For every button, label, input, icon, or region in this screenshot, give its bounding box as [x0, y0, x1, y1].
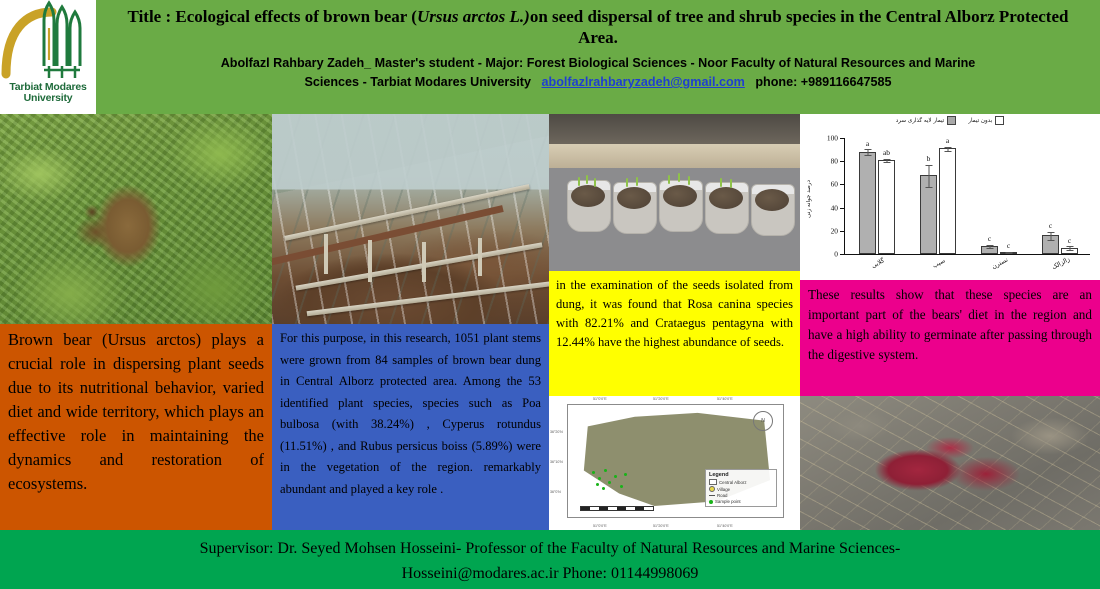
- germination-bar-chart: بدون تیمار تیمار لایه گذاری سرد درصد جوا…: [800, 114, 1100, 280]
- authors-block: Abolfazl Rahbary Zadeh_ Master's student…: [100, 48, 1096, 92]
- bar-zalzalak-cold: c: [1042, 235, 1059, 254]
- bar-sib-cold: b: [920, 175, 937, 254]
- map-legend-item-road: Road: [709, 493, 773, 498]
- photo-study-area-map: 51°0'0"E 51°20'0"E 51°40'0"E N Legend Ce…: [549, 396, 800, 530]
- supervisor-info: Supervisor: Dr. Seyed Mohsen Hosseini- P…: [0, 530, 1100, 586]
- sample-point-dot-icon: [709, 500, 713, 504]
- map-legend-title: Legend: [709, 472, 773, 478]
- photo-greenhouse-nursery: [272, 114, 549, 324]
- university-logo-text: Tarbiat Modares University: [0, 82, 96, 104]
- bar-zalzalak-none: c: [1061, 248, 1078, 254]
- chart-plot-area: درصد جوانه زنی 0 20 40 60 80 100 a: [800, 128, 1100, 280]
- intro-text-orange: Brown bear (Ursus arctos) plays a crucia…: [0, 324, 272, 530]
- map-legend-label-1: Central Alborz: [719, 480, 747, 485]
- conclusion-text-magenta: These results show that these species ar…: [800, 280, 1100, 396]
- legend-entry-cold-strat: تیمار لایه گذاری سرد: [896, 116, 956, 125]
- map-legend-item-sample-point: Sample point: [709, 499, 773, 504]
- photo-brown-bear: [0, 114, 272, 324]
- poster-header: Tarbiat Modares University Title : Ecolo…: [0, 0, 1100, 114]
- authors-line-1: Abolfazl Rahbary Zadeh_ Master's student…: [110, 54, 1086, 73]
- map-legend-item-central-alborz: Central Alborz: [709, 479, 773, 485]
- map-legend: Legend Central Alborz Village Road Sampl…: [705, 469, 777, 507]
- title-suffix: on seed dispersal of tree and shrub spec…: [530, 7, 1069, 47]
- supervisor-line-2: Hosseini@modares.ac.ir Phone: 0114499806…: [40, 561, 1060, 586]
- map-legend-label-3: Road: [717, 493, 728, 498]
- chart-x-axis: [844, 254, 1090, 255]
- compass-rose-icon: N: [753, 411, 773, 431]
- bar-golabi-none: ab: [878, 160, 895, 254]
- road-line-icon: [709, 495, 715, 496]
- bar-group-golabi: a ab: [859, 138, 895, 254]
- logo-line-2: University: [0, 93, 96, 104]
- photo-seedling-pots: [549, 114, 800, 271]
- authors-affiliation: Sciences - Tarbiat Modares University: [304, 75, 531, 89]
- x-tick-nastaran: نسترن: [991, 256, 1009, 270]
- chart-x-tick-labels: گلابی سیب نسترن زالزالک: [845, 258, 1090, 280]
- y-tick-80: 80: [831, 157, 838, 166]
- x-tick-zalzalak: زالزالک: [1051, 256, 1071, 271]
- title-prefix: Title : Ecological effects of brown bear…: [128, 7, 417, 26]
- map-frame: N Legend Central Alborz Village Road Sam…: [567, 404, 784, 518]
- supervisor-line-1: Supervisor: Dr. Seyed Mohsen Hosseini- P…: [40, 536, 1060, 561]
- chart-y-axis-label: درصد جوانه زنی: [806, 180, 812, 218]
- bar-nastaran-cold: c: [981, 246, 998, 254]
- map-legend-label-2: Village: [717, 487, 730, 492]
- y-tick-60: 60: [831, 180, 838, 189]
- authors-line-2: Sciences - Tarbiat Modares University ab…: [110, 73, 1086, 92]
- map-scale-bar: [580, 506, 654, 511]
- legend-label-no-treatment: بدون تیمار: [968, 118, 992, 124]
- y-tick-100: 100: [827, 134, 838, 143]
- chart-legend: بدون تیمار تیمار لایه گذاری سرد: [800, 116, 1100, 125]
- bar-nastaran-none: c: [1000, 252, 1017, 254]
- map-legend-item-village: Village: [709, 486, 773, 492]
- bar-group-sib: b a: [920, 138, 956, 254]
- bar-golabi-cold: a: [859, 152, 876, 254]
- findings-text-yellow: in the examination of the seeds isolated…: [549, 271, 800, 396]
- chart-y-tick-labels: 0 20 40 60 80 100: [818, 138, 842, 254]
- x-tick-sib: سیب: [932, 257, 947, 269]
- bar-sib-none: a: [939, 148, 956, 254]
- chart-bars: a ab b a: [845, 138, 1090, 254]
- page-title: Title : Ecological effects of brown bear…: [100, 0, 1096, 48]
- map-sample-points: [590, 467, 634, 495]
- bar-group-zalzalak: c c: [1042, 138, 1078, 254]
- village-dot-icon: [709, 486, 715, 492]
- poster-footer: Supervisor: Dr. Seyed Mohsen Hosseini- P…: [0, 530, 1100, 589]
- title-species-italic: Ursus arctos L.): [417, 7, 530, 26]
- legend-label-cold-strat: تیمار لایه گذاری سرد: [896, 118, 944, 124]
- legend-swatch-filled-icon: [947, 116, 956, 125]
- y-tick-0: 0: [834, 250, 838, 259]
- header-text-area: Title : Ecological effects of brown bear…: [100, 0, 1096, 114]
- poster-root: Tarbiat Modares University Title : Ecolo…: [0, 0, 1100, 589]
- legend-entry-no-treatment: بدون تیمار: [968, 116, 1004, 125]
- author-email-link[interactable]: abolfazlrahbaryzadeh@gmail.com: [542, 75, 745, 89]
- legend-swatch-open-icon: [995, 116, 1004, 125]
- photo-bear-dung-with-seeds: [800, 396, 1100, 530]
- university-logo: Tarbiat Modares University: [0, 0, 96, 114]
- y-tick-40: 40: [831, 203, 838, 212]
- wheat-stalks-logo-icon: [0, 0, 96, 82]
- bar-group-nastaran: c c: [981, 138, 1017, 254]
- x-tick-golabi: گلابی: [870, 257, 885, 270]
- author-phone: phone: +989116647585: [755, 75, 891, 89]
- y-tick-20: 20: [831, 226, 838, 235]
- polygon-outline-icon: [709, 479, 717, 485]
- methods-text-blue: For this purpose, in this research, 1051…: [272, 324, 549, 530]
- map-legend-label-4: Sample point: [715, 499, 741, 504]
